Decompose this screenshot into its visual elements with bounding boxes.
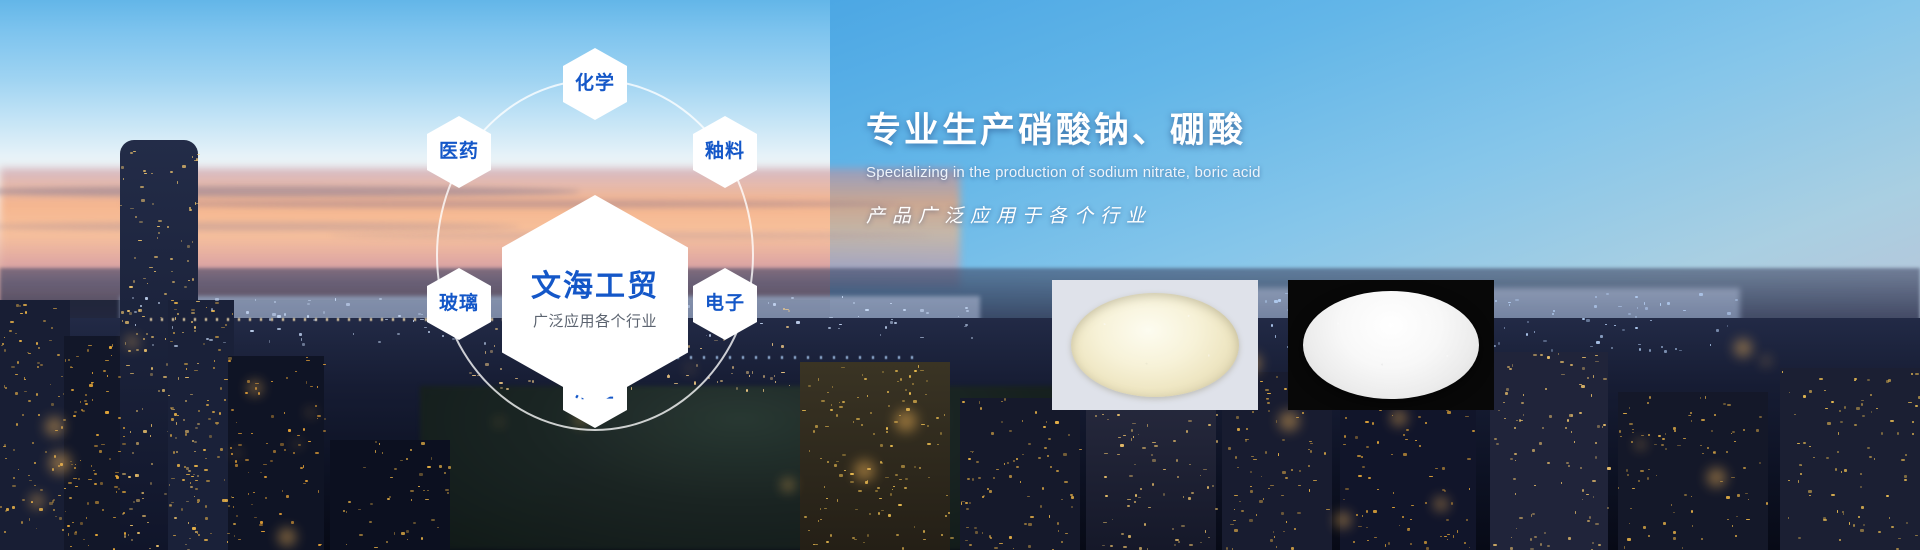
hex-node-label: 玻璃 (439, 293, 479, 315)
powder-texture (1303, 291, 1479, 399)
powder-pile (1303, 291, 1479, 399)
company-name: 文海工贸 (531, 270, 659, 305)
window-lights (0, 0, 1920, 550)
tagline: 产品广泛应用于各个行业 (866, 201, 1566, 228)
background-cityscape-image (0, 0, 1920, 550)
hex-node-label: 医药 (439, 141, 479, 163)
subheadline-english: Specializing in the production of sodium… (866, 164, 1566, 181)
promo-banner: 化学 釉料 电子 冶金 玻璃 医药 文海工贸 广泛应用各个行业 专业生产硝酸钠、… (0, 0, 1920, 550)
product-photo-group (1052, 280, 1512, 410)
hex-node-label: 化学 (575, 73, 615, 95)
industry-hexagon-diagram: 化学 釉料 电子 冶金 玻璃 医药 文海工贸 广泛应用各个行业 (420, 35, 770, 475)
marketing-copy: 专业生产硝酸钠、硼酸 Specializing in the productio… (866, 102, 1566, 228)
white-powder-photo[interactable] (1288, 280, 1494, 410)
powder-pile (1071, 293, 1239, 397)
company-tagline: 广泛应用各个行业 (533, 313, 657, 330)
hex-node-label: 釉料 (705, 141, 745, 163)
cream-powder-photo[interactable] (1052, 280, 1258, 410)
powder-texture (1071, 293, 1239, 397)
hex-node-label: 电子 (705, 293, 745, 315)
headline: 专业生产硝酸钠、硼酸 (866, 102, 1566, 153)
